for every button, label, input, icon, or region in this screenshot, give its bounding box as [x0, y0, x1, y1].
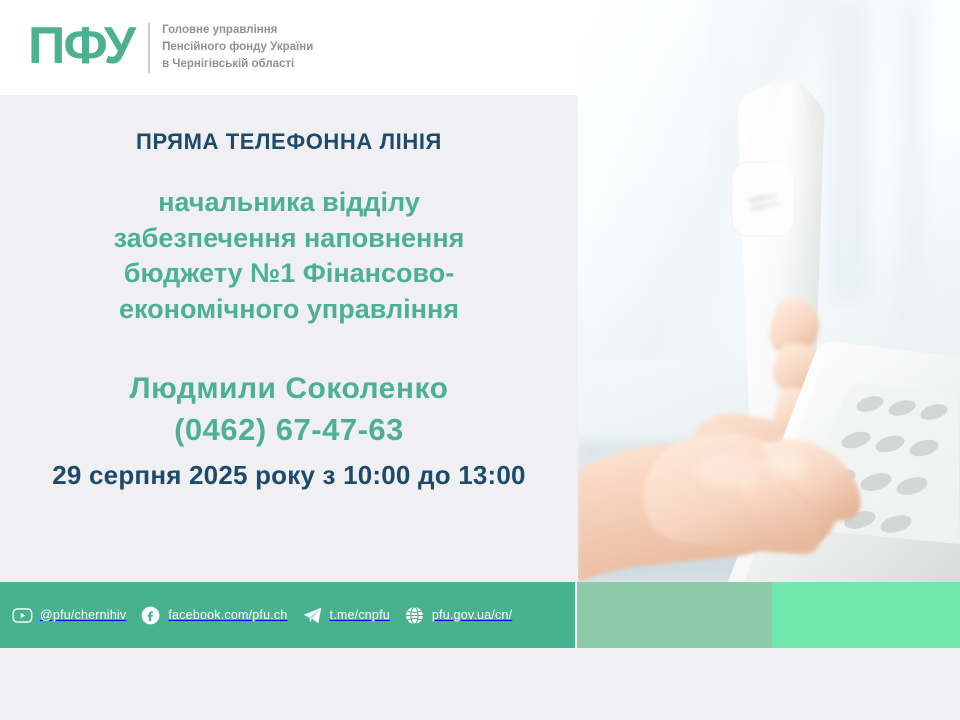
- phone-photo: [578, 0, 960, 582]
- organization-name-line-2: Пенсійного фонду України: [162, 39, 313, 56]
- subject-line-4: економічного управління: [40, 292, 538, 328]
- social-label-telegram: t.me/cnpfu: [330, 608, 390, 622]
- footer-links-bar: @pfu/chernihiv facebook.com/pfu.ch: [0, 582, 575, 648]
- phone-number: (0462) 67-47-63: [0, 412, 578, 448]
- facebook-icon: [140, 605, 161, 626]
- date-time-line: 29 серпня 2025 року з 10:00 до 13:00: [0, 460, 578, 491]
- social-link-website[interactable]: pfu.gov.ua/cn/: [404, 605, 512, 626]
- footer: @pfu/chernihiv facebook.com/pfu.ch: [0, 582, 960, 648]
- social-label-youtube: @pfu/chernihiv: [40, 608, 126, 622]
- announcement-subject: начальника відділу забезпечення наповнен…: [0, 185, 578, 328]
- footer-accent-band-3: [772, 582, 960, 648]
- social-link-youtube[interactable]: @pfu/chernihiv: [12, 605, 126, 626]
- globe-icon: [404, 605, 425, 626]
- telegram-icon: [302, 605, 323, 626]
- organization-logo: ПФУ Головне управління Пенсійного фонду …: [28, 20, 313, 76]
- pfu-logo-mark: ПФУ: [28, 20, 134, 76]
- organization-name: Головне управління Пенсійного фонду Укра…: [162, 22, 313, 72]
- phone-photo-illustration: [578, 0, 960, 582]
- social-label-facebook: facebook.com/pfu.ch: [168, 608, 287, 622]
- organization-name-line-1: Головне управління: [162, 22, 313, 39]
- announcement-card: ПРЯМА ТЕЛЕФОННА ЛІНІЯ начальника відділу…: [0, 95, 578, 582]
- announcement-content: ПРЯМА ТЕЛЕФОННА ЛІНІЯ начальника відділу…: [0, 95, 578, 582]
- announcement-title: ПРЯМА ТЕЛЕФОННА ЛІНІЯ: [0, 129, 578, 155]
- logo-divider: [148, 23, 150, 73]
- subject-line-1: начальника відділу: [40, 185, 538, 221]
- bottom-spacer: [0, 648, 960, 720]
- official-name: Людмили Соколенко: [0, 372, 578, 406]
- poster-root: ПФУ Головне управління Пенсійного фонду …: [0, 0, 960, 720]
- subject-line-3: бюджету №1 Фінансово-: [40, 256, 538, 292]
- social-link-telegram[interactable]: t.me/cnpfu: [302, 605, 390, 626]
- youtube-icon: [12, 605, 33, 626]
- social-link-facebook[interactable]: facebook.com/pfu.ch: [140, 605, 287, 626]
- social-label-website: pfu.gov.ua/cn/: [432, 608, 512, 622]
- subject-line-2: забезпечення наповнення: [40, 221, 538, 257]
- footer-accent-band-2: [577, 582, 772, 648]
- organization-name-line-3: в Чернігівській області: [162, 56, 313, 73]
